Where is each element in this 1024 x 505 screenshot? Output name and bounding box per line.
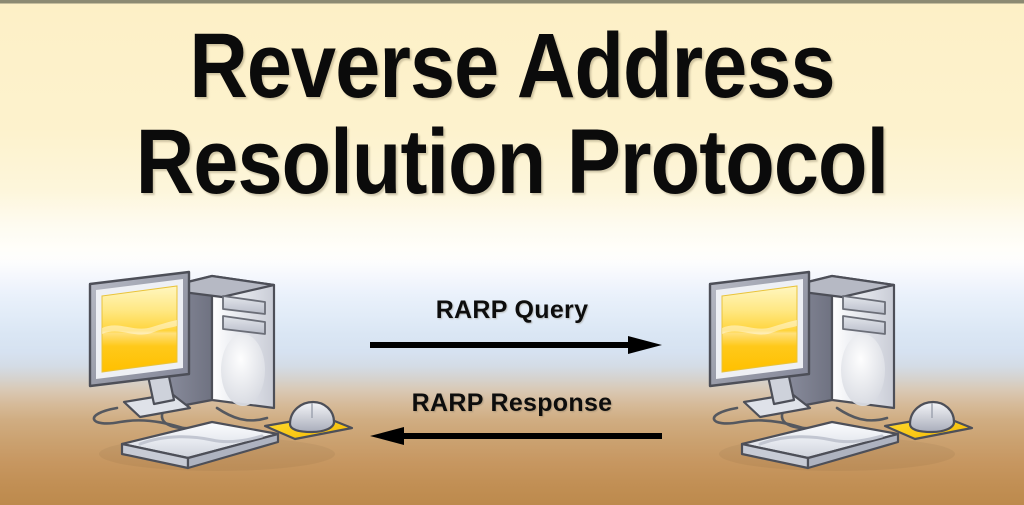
- left-computer: [62, 258, 362, 488]
- message-label-response: RARP Response: [0, 389, 1024, 418]
- diagram-canvas: Reverse Address Resolution Protocol: [0, 0, 1024, 505]
- right-computer: [682, 258, 982, 488]
- arrow-left-icon: [370, 425, 662, 447]
- arrow-query: [370, 334, 662, 356]
- computer-illustration: [62, 258, 362, 488]
- message-label-query: RARP Query: [0, 296, 1024, 325]
- computer-illustration: [682, 258, 982, 488]
- page-title: Reverse Address Resolution Protocol: [0, 18, 1024, 210]
- arrow-response: [370, 425, 662, 447]
- title-line-1: Reverse Address: [61, 18, 962, 114]
- arrow-right-icon: [370, 334, 662, 356]
- title-line-2: Resolution Protocol: [61, 114, 962, 210]
